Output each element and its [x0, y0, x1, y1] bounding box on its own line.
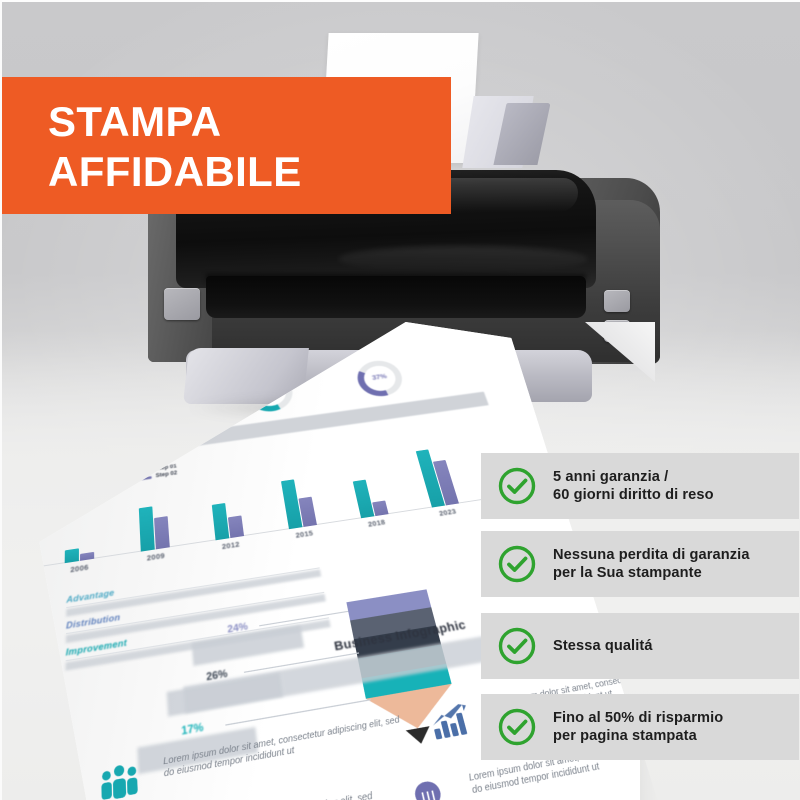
frame-edge-left [0, 0, 2, 800]
x-tick-label-2018: 2018 [368, 519, 387, 528]
feature-box-4[interactable]: Fino al 50% di risparmio per pagina stam… [481, 694, 799, 760]
bar-2018-step-01 [352, 480, 374, 518]
bar-2012-step-01 [211, 503, 229, 541]
lightbulb-idea-icon [404, 777, 455, 800]
headline-line-1: STAMPA [48, 98, 222, 145]
check-circle-icon [497, 466, 537, 506]
headline-line-2: AFFIDABILE [48, 148, 302, 195]
bar-2006-step-02 [80, 552, 94, 561]
feature-label-3: Stessa qualitá [553, 637, 653, 655]
bar-2018-step-02 [372, 501, 388, 516]
bar-2012-step-02 [227, 515, 243, 538]
pencil-value-3: 17% [181, 721, 204, 738]
bar-2009-step-02 [154, 516, 170, 550]
bar-2009-step-01 [138, 507, 154, 552]
printer-output-slot [206, 276, 586, 318]
feature-label-1: 5 anni garanzia / 60 giorni diritto di r… [553, 468, 714, 504]
printer-power-button[interactable] [164, 288, 200, 320]
x-tick-label-2015: 2015 [295, 530, 314, 539]
donut-chart-2: 37% [354, 358, 407, 399]
feature-box-1[interactable]: 5 anni garanzia / 60 giorni diritto di r… [481, 453, 799, 519]
feature-label-4: Fino al 50% di risparmio per pagina stam… [553, 709, 723, 745]
feature-label-2: Nessuna perdita di garanzia per la Sua s… [553, 546, 750, 582]
x-tick-label-2023: 2023 [439, 509, 458, 518]
chart-axis [43, 499, 482, 566]
x-tick-label-2006: 2006 [70, 565, 89, 575]
check-circle-icon [497, 544, 537, 584]
page-title: STAMPAAFFIDABILE [48, 97, 302, 197]
bar-chart-growth-icon [427, 703, 476, 743]
feature-box-3[interactable]: Stessa qualitá [481, 613, 799, 679]
pencil-lead [406, 726, 433, 746]
x-tick-label-2009: 2009 [147, 553, 166, 563]
feature-box-2[interactable]: Nessuna perdita di garanzia per la Sua s… [481, 531, 799, 597]
check-circle-icon [497, 626, 537, 666]
people-group-icon [97, 760, 141, 800]
x-tick-label-2012: 2012 [222, 542, 241, 551]
check-circle-icon [497, 707, 537, 747]
printer-lid-highlight-2 [338, 246, 588, 272]
bar-2006-step-01 [64, 548, 78, 563]
icon-feature-text-3: Lorem ipsum dolor sit amet, consectetur … [122, 788, 381, 800]
headline-banner: STAMPAAFFIDABILE [0, 77, 451, 214]
frame-edge-top [0, 0, 800, 2]
promo-banner-image: Banner Infographics 35% 37% Step 01 Step… [0, 0, 800, 800]
printer-button-top[interactable] [604, 290, 630, 312]
